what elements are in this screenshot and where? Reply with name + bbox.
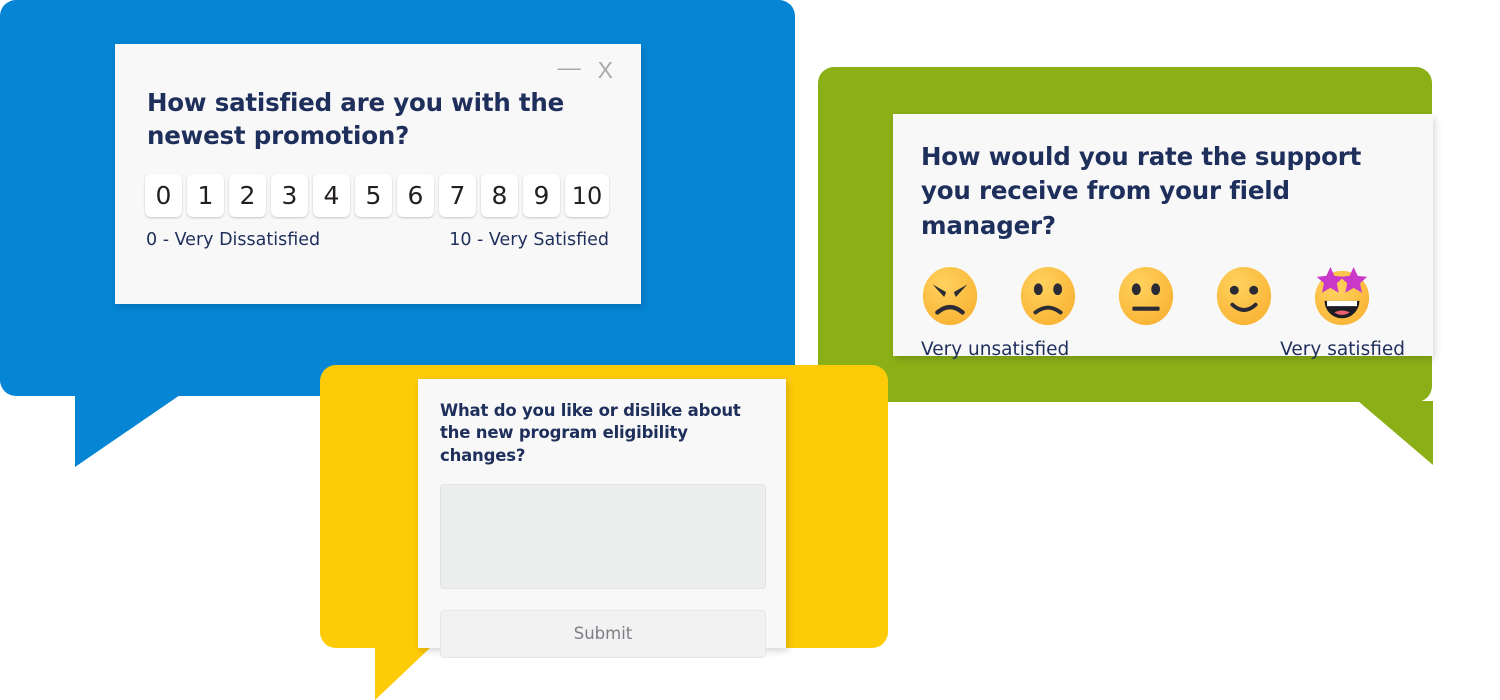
nps-scale-row[interactable]: 0 1 2 3 4 5 6 7 8 9 10 <box>115 152 641 217</box>
bubble-green-tail <box>1358 401 1433 465</box>
nps-question-text: How satisfied are you with the newest pr… <box>115 82 641 152</box>
emoji-survey-card: How would you rate the support you recei… <box>893 114 1433 356</box>
nps-option-9[interactable]: 9 <box>523 174 560 217</box>
survey-bubbles-stage: — X How satisfied are you with the newes… <box>0 0 1500 700</box>
nps-option-7[interactable]: 7 <box>439 174 476 217</box>
speech-bubble-green: How would you rate the support you recei… <box>818 67 1500 467</box>
minimize-icon[interactable]: — <box>558 56 580 79</box>
nps-option-6[interactable]: 6 <box>397 174 434 217</box>
bubble-yellow-tail <box>375 647 431 700</box>
nps-option-5[interactable]: 5 <box>355 174 392 217</box>
nps-scale-labels: 0 - Very Dissatisfied 10 - Very Satisfie… <box>115 217 641 250</box>
emoji-scale-row[interactable] <box>893 243 1433 327</box>
free-text-answer-area[interactable] <box>440 484 766 589</box>
bubble-blue-tail <box>75 395 180 467</box>
frowning-face-emoji[interactable] <box>1017 265 1079 327</box>
nps-option-4[interactable]: 4 <box>313 174 350 217</box>
nps-survey-card: — X How satisfied are you with the newes… <box>115 44 641 304</box>
angry-face-emoji[interactable] <box>919 265 981 327</box>
nps-high-label: 10 - Very Satisfied <box>449 230 609 250</box>
window-controls: — X <box>115 44 641 82</box>
nps-option-0[interactable]: 0 <box>145 174 182 217</box>
emoji-question-text: How would you rate the support you recei… <box>893 114 1433 243</box>
submit-button[interactable]: Submit <box>440 610 766 658</box>
nps-option-8[interactable]: 8 <box>481 174 518 217</box>
neutral-face-emoji[interactable] <box>1115 265 1177 327</box>
free-text-survey-card: What do you like or dislike about the ne… <box>418 379 786 648</box>
nps-option-2[interactable]: 2 <box>229 174 266 217</box>
emoji-high-label: Very satisfied <box>1280 339 1405 360</box>
emoji-low-label: Very unsatisfied <box>921 339 1069 360</box>
nps-low-label: 0 - Very Dissatisfied <box>146 230 320 250</box>
emoji-scale-labels: Very unsatisfied Very satisfied <box>893 327 1433 360</box>
slightly-smiling-face-emoji[interactable] <box>1213 265 1275 327</box>
nps-option-10[interactable]: 10 <box>565 174 609 217</box>
nps-option-1[interactable]: 1 <box>187 174 224 217</box>
free-text-answer-input[interactable] <box>441 485 765 588</box>
nps-option-3[interactable]: 3 <box>271 174 308 217</box>
close-icon[interactable]: X <box>598 59 613 82</box>
speech-bubble-yellow: What do you like or dislike about the ne… <box>320 365 890 700</box>
star-struck-face-emoji[interactable] <box>1311 265 1373 327</box>
free-text-question-text: What do you like or dislike about the ne… <box>418 379 786 467</box>
